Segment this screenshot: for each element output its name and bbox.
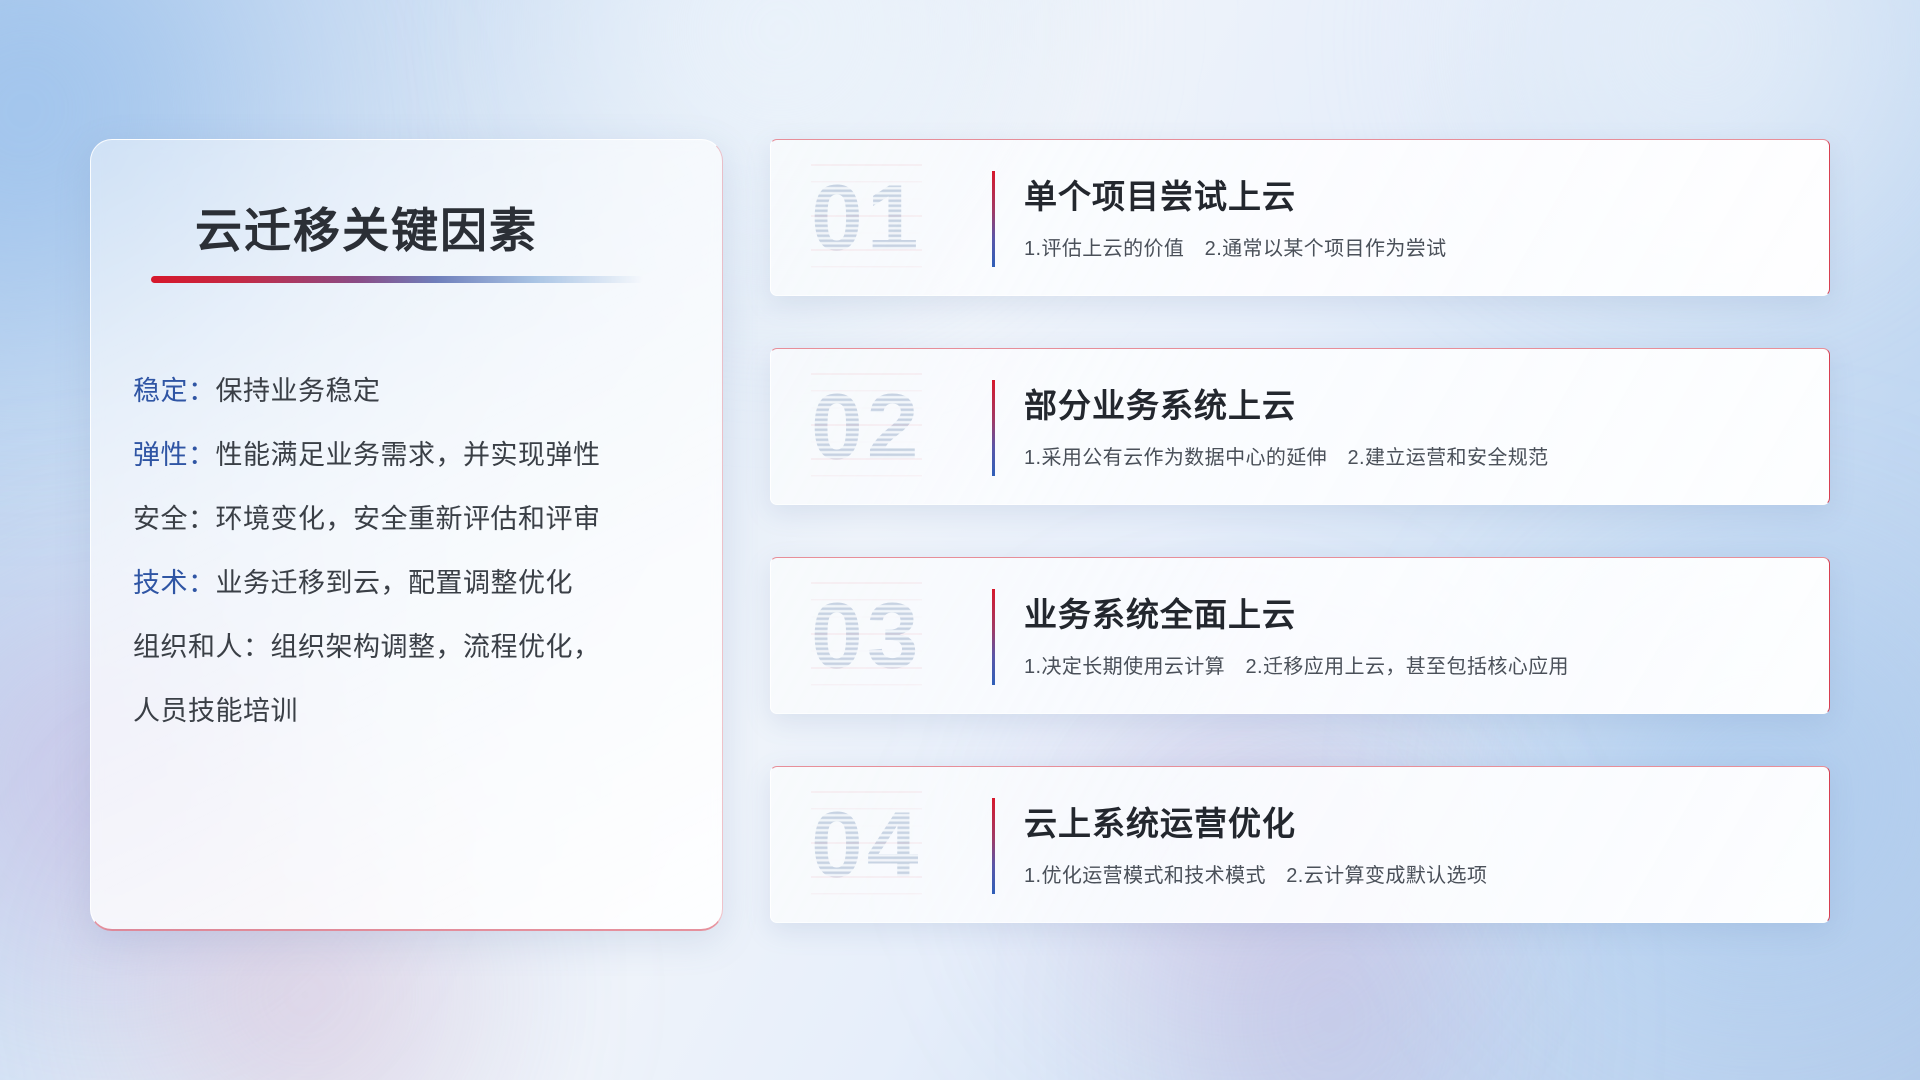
card-title: 业务系统全面上云 [1024,588,1296,636]
slide-stage: 云迁移关键因素 稳定：保持业务稳定 弹性：性能满足业务需求，并实现弹性 安全：环… [0,0,1920,1080]
title-underline-accent [151,276,643,283]
list-item-text: 人员技能培训 [133,696,298,726]
key-factors-panel: 云迁移关键因素 稳定：保持业务稳定 弹性：性能满足业务需求，并实现弹性 安全：环… [90,139,723,931]
card-title: 部分业务系统上云 [1024,379,1296,427]
card-accent-divider [992,380,995,476]
list-item-key: 稳定： [133,376,216,406]
card-accent-divider [992,798,995,894]
card-subtitle: 1.评估上云的价值 2.通常以某个项目作为尝试 [1024,232,1447,261]
list-item-key: 组织和人： [133,632,271,662]
list-item-key: 安全： [133,504,216,534]
card-title: 单个项目尝试上云 [1024,170,1296,218]
list-item-text: 业务迁移到云，配置调整优化 [216,568,574,598]
card-title: 云上系统运营优化 [1024,797,1296,845]
stage-number-glyph: 04 [811,791,922,898]
stage-card-02[interactable]: 02 部分业务系统上云 1.采用公有云作为数据中心的延伸 2.建立运营和安全规范 [770,348,1830,505]
stage-card-03[interactable]: 03 业务系统全面上云 1.决定长期使用云计算 2.迁移应用上云，甚至包括核心应… [770,557,1830,714]
stage-number-glyph: 03 [811,582,922,689]
list-item-continuation: 人员技能培训 [133,698,693,725]
list-item: 稳定：保持业务稳定 [133,378,693,405]
list-item-key: 弹性： [133,440,216,470]
list-item-text: 性能满足业务需求，并实现弹性 [216,440,601,470]
list-item-key: 技术： [133,568,216,598]
list-item: 安全：环境变化，安全重新评估和评审 [133,506,693,533]
page-title: 云迁移关键因素 [195,192,538,261]
card-accent-divider [992,171,995,267]
stage-card-04[interactable]: 04 云上系统运营优化 1.优化运营模式和技术模式 2.云计算变成默认选项 [770,766,1830,923]
list-item: 组织和人：组织架构调整，流程优化， [133,634,693,661]
list-item-text: 保持业务稳定 [216,376,381,406]
list-item: 弹性：性能满足业务需求，并实现弹性 [133,442,693,469]
key-factors-list: 稳定：保持业务稳定 弹性：性能满足业务需求，并实现弹性 安全：环境变化，安全重新… [133,378,693,725]
list-item-text: 组织架构调整，流程优化， [271,632,601,662]
list-item-text: 环境变化，安全重新评估和评审 [216,504,601,534]
stage-card-01[interactable]: 01 单个项目尝试上云 1.评估上云的价值 2.通常以某个项目作为尝试 [770,139,1830,296]
stage-number-glyph: 01 [811,164,922,271]
card-subtitle: 1.决定长期使用云计算 2.迁移应用上云，甚至包括核心应用 [1024,650,1569,679]
card-subtitle: 1.采用公有云作为数据中心的延伸 2.建立运营和安全规范 [1024,441,1549,470]
card-accent-divider [992,589,995,685]
stage-number-glyph: 02 [811,373,922,480]
card-subtitle: 1.优化运营模式和技术模式 2.云计算变成默认选项 [1024,859,1487,888]
list-item: 技术：业务迁移到云，配置调整优化 [133,570,693,597]
